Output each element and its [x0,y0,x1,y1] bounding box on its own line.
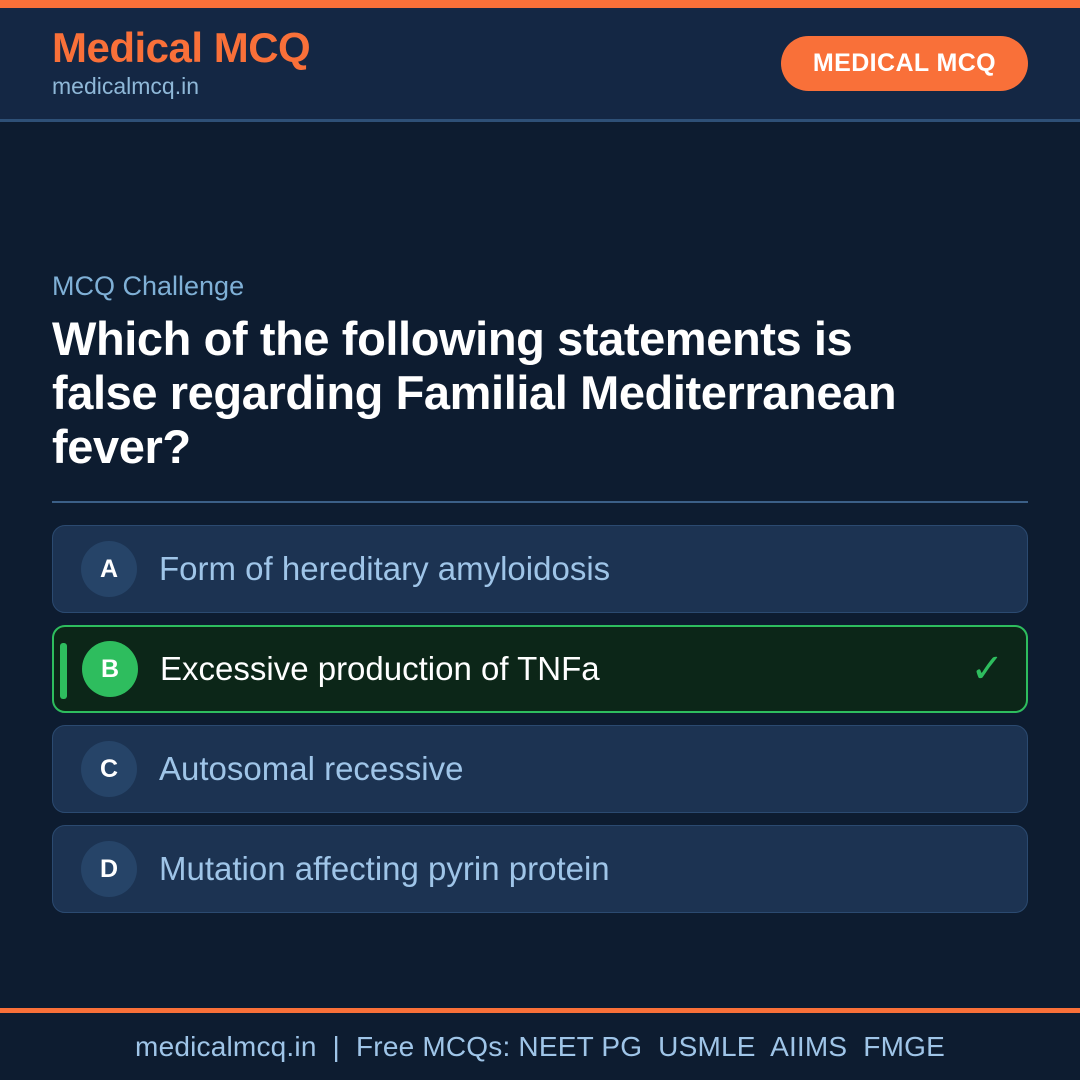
mcq-card: Medical MCQ medicalmcq.in MEDICAL MCQ MC… [0,0,1080,1080]
option-d[interactable]: D Mutation affecting pyrin protein ✓ [52,825,1028,913]
question-divider [52,501,1028,503]
option-a-text: Form of hereditary amyloidosis [159,549,961,589]
options-list: A Form of hereditary amyloidosis ✓ B Exc… [52,525,1028,913]
page-header: Medical MCQ medicalmcq.in MEDICAL MCQ [0,8,1080,122]
option-b-text: Excessive production of TNFa [160,649,960,689]
brand-badge: MEDICAL MCQ [781,36,1028,91]
option-a[interactable]: A Form of hereditary amyloidosis ✓ [52,525,1028,613]
option-c[interactable]: C Autosomal recessive ✓ [52,725,1028,813]
option-a-letter: A [81,541,137,597]
check-icon: ✓ [970,649,1004,689]
option-b-letter: B [82,641,138,697]
footer-text: medicalmcq.in | Free MCQs: NEET PG USMLE… [135,1031,945,1063]
option-b[interactable]: B Excessive production of TNFa ✓ [52,625,1028,713]
brand: Medical MCQ medicalmcq.in [52,26,310,100]
page-footer: medicalmcq.in | Free MCQs: NEET PG USMLE… [0,1008,1080,1080]
option-d-text: Mutation affecting pyrin protein [159,849,961,889]
brand-subtitle: medicalmcq.in [52,72,310,101]
question-kicker: MCQ Challenge [52,270,1028,302]
main-content: MCQ Challenge Which of the following sta… [0,122,1080,1008]
brand-title: Medical MCQ [52,26,310,70]
option-c-letter: C [81,741,137,797]
top-accent-bar [0,0,1080,8]
question-text: Which of the following statements is fal… [52,312,942,473]
option-c-text: Autosomal recessive [159,749,961,789]
top-spacer [52,122,1028,270]
option-d-letter: D [81,841,137,897]
